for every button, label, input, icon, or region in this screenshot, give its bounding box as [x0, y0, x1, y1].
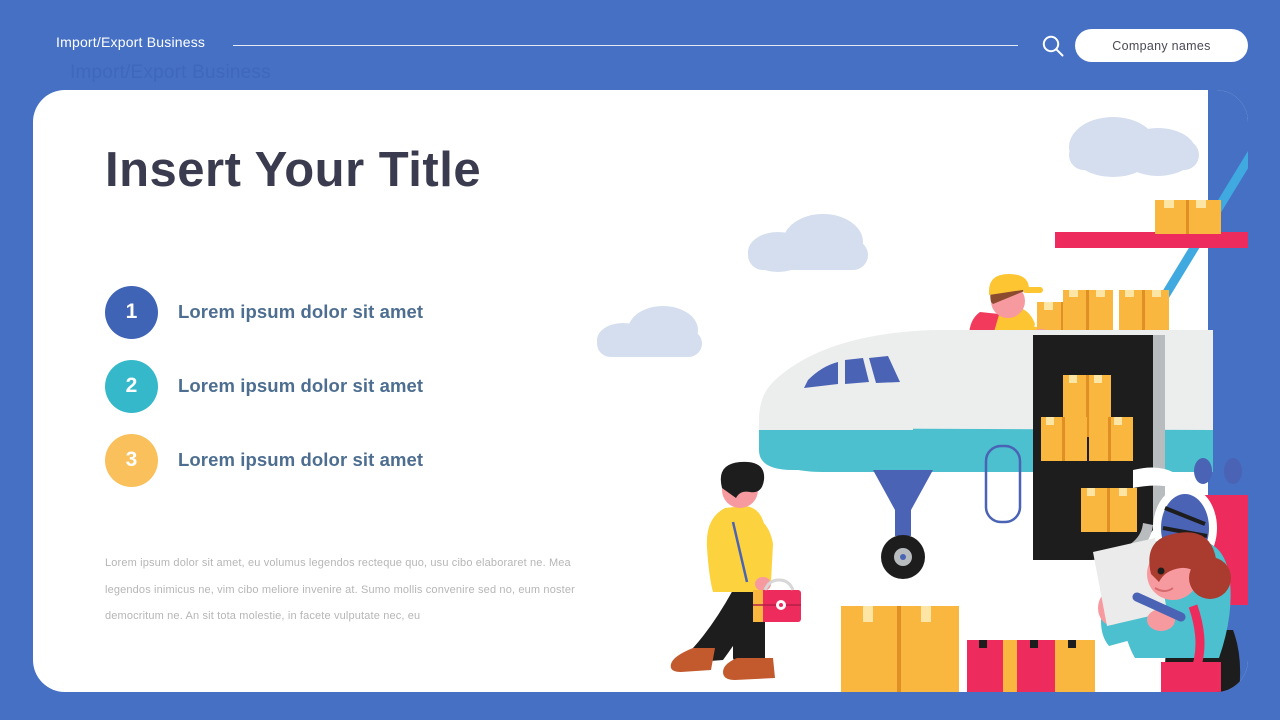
bullet-number-3: 3 [105, 434, 158, 487]
woman-with-clipboard-and-pen [1093, 532, 1240, 692]
walking-businessman-with-briefcase [671, 462, 801, 680]
box-on-beam [1155, 200, 1221, 234]
luggage-row [841, 606, 1095, 692]
landing-gear [873, 470, 933, 579]
list-item[interactable]: 2 Lorem ipsum dolor sit amet [105, 349, 575, 423]
boxes-on-fuselage-top [1063, 290, 1169, 330]
body-paragraph: Lorem ipsum dolor sit amet, eu volumus l… [105, 550, 605, 630]
list-item[interactable]: 1 Lorem ipsum dolor sit amet [105, 275, 575, 349]
airplane-cargo-door [1033, 335, 1165, 565]
red-loading-beam [1055, 232, 1248, 248]
search-icon[interactable] [1040, 33, 1066, 59]
brand-ghost-text: Import/Export Business [70, 62, 271, 84]
bullet-label-1: Lorem ipsum dolor sit amet [178, 301, 423, 323]
bullet-number-1: 1 [105, 286, 158, 339]
bullet-number-2: 2 [105, 360, 158, 413]
cloud-small-left [597, 306, 702, 357]
cloud-large-top-right [1069, 117, 1199, 177]
brand-title: Import/Export Business [56, 34, 205, 50]
top-header-bar: Import/Export Business Import/Export Bus… [0, 0, 1280, 90]
slide-card: Insert Your Title 1 Lorem ipsum dolor si… [33, 90, 1248, 692]
header-divider-line [233, 45, 1018, 46]
bullet-label-2: Lorem ipsum dolor sit amet [178, 375, 423, 397]
page-title: Insert Your Title [105, 142, 481, 198]
cloud-medium-left [748, 214, 868, 272]
company-names-button[interactable]: Company names [1075, 29, 1248, 62]
bullet-label-3: Lorem ipsum dolor sit amet [178, 449, 423, 471]
numbered-list: 1 Lorem ipsum dolor sit amet 2 Lorem ips… [105, 275, 575, 497]
list-item[interactable]: 3 Lorem ipsum dolor sit amet [105, 423, 575, 497]
